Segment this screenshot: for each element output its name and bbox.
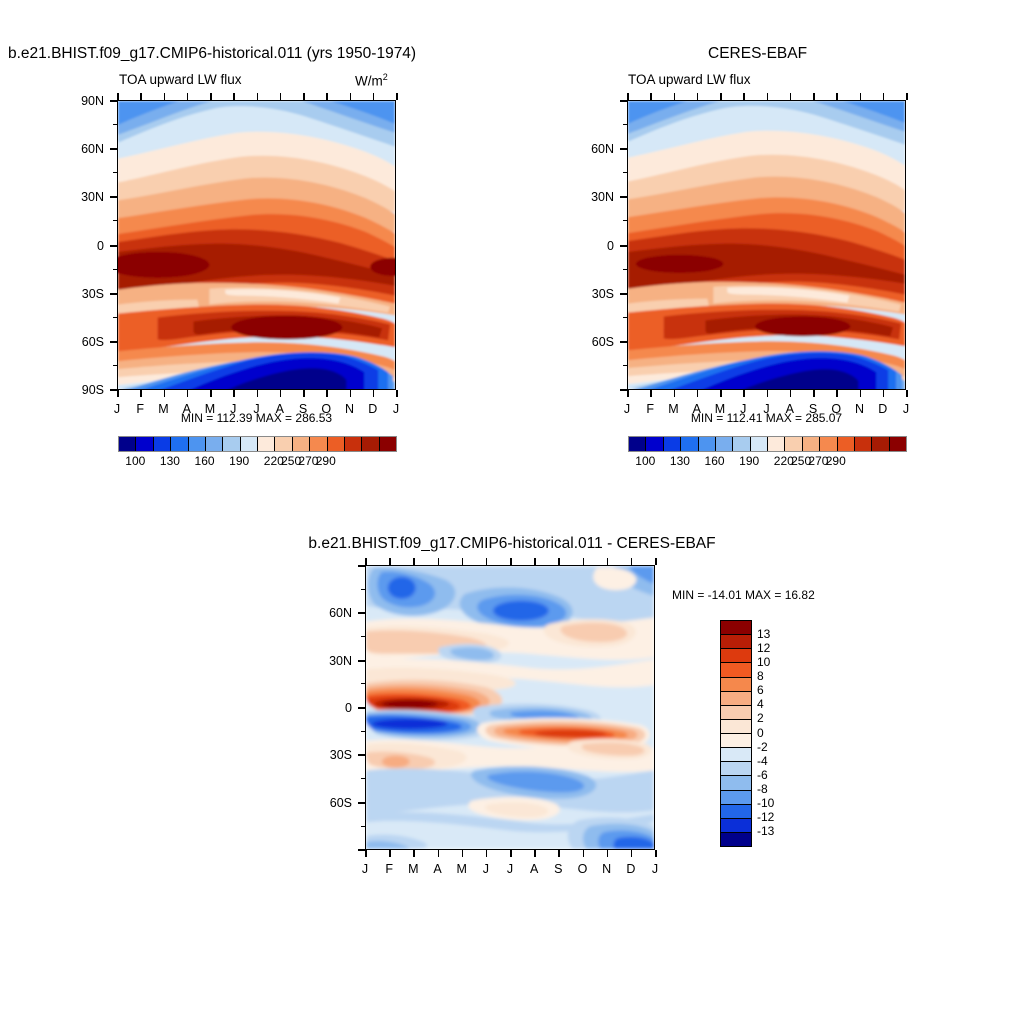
colorbar-label: 190 — [739, 454, 759, 468]
colorbar-cell — [721, 706, 751, 720]
colorbar-cell — [803, 437, 820, 451]
xaxis-top-tick — [117, 93, 119, 100]
colorbar-label: 290 — [316, 454, 336, 468]
obs-ytick-30S — [620, 293, 627, 295]
model-ytick-30N — [110, 196, 117, 198]
colorbar-label: 190 — [229, 454, 249, 468]
xaxis-top-tick — [510, 558, 512, 565]
xaxis-tick — [462, 850, 464, 857]
xaxis-tick — [558, 850, 560, 857]
colorbar-cell — [275, 437, 292, 451]
diff-panel-title: b.e21.BHIST.f09_g17.CMIP6-historical.011… — [0, 535, 1024, 553]
diff-ytick-minor — [361, 778, 365, 779]
obs-contour-field — [628, 101, 905, 389]
colorbar-label: 10 — [757, 655, 770, 669]
obs-ytick-60N — [620, 148, 627, 150]
model-ytick-minor — [113, 317, 117, 318]
xaxis-tick — [303, 390, 305, 397]
colorbar-label: -8 — [757, 782, 768, 796]
colorbar-cell — [785, 437, 802, 451]
xaxis-label: A — [433, 862, 441, 876]
xaxis-top-tick — [906, 93, 908, 100]
model-panel-subtitle: TOA upward LW flux — [119, 72, 242, 87]
model-ytick-minor — [113, 172, 117, 173]
colorbar-cell — [154, 437, 171, 451]
xaxis-tick — [767, 390, 769, 397]
xaxis-tick — [743, 390, 745, 397]
diff-ytick-90S — [358, 849, 365, 851]
colorbar-cell — [721, 734, 751, 748]
diff-ylabel-30S: 30S — [304, 748, 352, 762]
colorbar-cell — [721, 748, 751, 762]
model-ytick-minor — [113, 365, 117, 366]
model-ytick-60S — [110, 341, 117, 343]
xaxis-tick — [534, 850, 536, 857]
colorbar-cell — [258, 437, 275, 451]
colorbar-cell — [721, 791, 751, 805]
colorbar-cell — [119, 437, 136, 451]
xaxis-top-tick — [697, 93, 699, 100]
xaxis-tick — [373, 390, 375, 397]
xaxis-top-tick — [813, 93, 815, 100]
colorbar-cell — [721, 692, 751, 706]
colorbar-label: 8 — [757, 669, 764, 683]
colorbar-cell — [721, 635, 751, 649]
xaxis-top-tick — [365, 558, 367, 565]
model-panel-title: b.e21.BHIST.f09_g17.CMIP6-historical.011… — [8, 45, 416, 63]
colorbar-cell — [136, 437, 153, 451]
xaxis-top-tick — [650, 93, 652, 100]
colorbar-label: -13 — [757, 824, 774, 838]
xaxis-tick — [438, 850, 440, 857]
diff-ylabel-60N: 60N — [304, 606, 352, 620]
xaxis-tick — [655, 850, 657, 857]
model-plot-area — [117, 100, 396, 390]
xaxis-tick — [720, 390, 722, 397]
xaxis-tick — [631, 850, 633, 857]
obs-panel-subtitle: TOA upward LW flux — [628, 72, 751, 87]
xaxis-top-tick — [743, 93, 745, 100]
colorbar-cell — [345, 437, 362, 451]
diff-ytick-minor — [361, 636, 365, 637]
xaxis-tick — [906, 390, 908, 397]
xaxis-tick — [117, 390, 119, 397]
colorbar-cell — [206, 437, 223, 451]
xaxis-tick — [326, 390, 328, 397]
xaxis-top-tick — [583, 558, 585, 565]
xaxis-tick — [836, 390, 838, 397]
obs-colorbar — [628, 436, 907, 452]
colorbar-cell — [721, 776, 751, 790]
colorbar-cell — [721, 649, 751, 663]
xaxis-top-tick — [210, 93, 212, 100]
model-ylabel-30N: 30N — [56, 190, 104, 204]
colorbar-cell — [189, 437, 206, 451]
colorbar-cell — [721, 678, 751, 692]
xaxis-top-tick — [396, 93, 398, 100]
diff-plot-area — [365, 565, 655, 850]
xaxis-top-tick — [607, 558, 609, 565]
xaxis-tick — [140, 390, 142, 397]
xaxis-top-tick — [860, 93, 862, 100]
diff-ytick-minor — [361, 731, 365, 732]
model-ylabel-0: 0 — [56, 239, 104, 253]
xaxis-label: J — [362, 862, 368, 876]
xaxis-top-tick — [187, 93, 189, 100]
obs-ytick-minor — [623, 269, 627, 270]
colorbar-cell — [171, 437, 188, 451]
diff-ytick-60S — [358, 802, 365, 804]
model-colorbar — [118, 436, 397, 452]
colorbar-cell — [768, 437, 785, 451]
obs-ylabel-60N: 60N — [566, 142, 614, 156]
obs-minmax: MIN = 112.41 MAX = 285.07 — [627, 411, 906, 425]
xaxis-top-tick — [720, 93, 722, 100]
colorbar-label: -12 — [757, 810, 774, 824]
xaxis-top-tick — [534, 558, 536, 565]
xaxis-label: J — [483, 862, 489, 876]
diff-ylabel-60S: 60S — [304, 796, 352, 810]
obs-ylabel-30N: 30N — [566, 190, 614, 204]
colorbar-label: 4 — [757, 697, 764, 711]
xaxis-tick — [350, 390, 352, 397]
xaxis-top-tick — [627, 93, 629, 100]
model-contour-field — [118, 101, 395, 389]
model-ytick-0 — [110, 245, 117, 247]
xaxis-label: J — [507, 862, 513, 876]
colorbar-cell — [699, 437, 716, 451]
obs-ylabel-60S: 60S — [566, 335, 614, 349]
colorbar-cell — [751, 437, 768, 451]
model-ylabel-90N: 90N — [56, 94, 104, 108]
xaxis-top-tick — [326, 93, 328, 100]
xaxis-top-tick — [655, 558, 657, 565]
xaxis-top-tick — [413, 558, 415, 565]
obs-ylabel-30S: 30S — [566, 287, 614, 301]
xaxis-top-tick — [350, 93, 352, 100]
obs-ytick-minor — [623, 124, 627, 125]
colorbar-label: -2 — [757, 740, 768, 754]
colorbar-cell — [664, 437, 681, 451]
xaxis-top-tick — [438, 558, 440, 565]
xaxis-label: F — [385, 862, 393, 876]
model-units-label: W/m2 — [355, 72, 388, 89]
colorbar-cell — [328, 437, 345, 451]
colorbar-cell — [890, 437, 906, 451]
diff-colorbar — [720, 620, 752, 847]
xaxis-top-tick — [389, 558, 391, 565]
colorbar-cell — [223, 437, 240, 451]
model-ylabel-30S: 30S — [56, 287, 104, 301]
colorbar-cell — [855, 437, 872, 451]
xaxis-tick — [510, 850, 512, 857]
colorbar-label: 12 — [757, 641, 770, 655]
xaxis-label: N — [602, 862, 611, 876]
model-ylabel-60N: 60N — [56, 142, 104, 156]
xaxis-top-tick — [836, 93, 838, 100]
xaxis-top-tick — [674, 93, 676, 100]
colorbar-cell — [721, 621, 751, 635]
obs-ytick-90N — [620, 100, 627, 102]
diff-ytick-60N — [358, 612, 365, 614]
colorbar-cell — [872, 437, 889, 451]
xaxis-tick — [233, 390, 235, 397]
diff-ylabel-30N: 30N — [304, 654, 352, 668]
colorbar-label: 130 — [670, 454, 690, 468]
colorbar-label: 160 — [195, 454, 215, 468]
colorbar-cell — [733, 437, 750, 451]
xaxis-tick — [396, 390, 398, 397]
xaxis-top-tick — [883, 93, 885, 100]
colorbar-cell — [362, 437, 379, 451]
xaxis-label: A — [530, 862, 538, 876]
colorbar-cell — [721, 720, 751, 734]
obs-ytick-minor — [623, 220, 627, 221]
xaxis-tick — [583, 850, 585, 857]
colorbar-label: 2 — [757, 711, 764, 725]
xaxis-top-tick — [462, 558, 464, 565]
colorbar-cell — [646, 437, 663, 451]
colorbar-label: 100 — [125, 454, 145, 468]
colorbar-cell — [629, 437, 646, 451]
xaxis-top-tick — [767, 93, 769, 100]
xaxis-tick — [164, 390, 166, 397]
colorbar-cell — [721, 762, 751, 776]
diff-ytick-30S — [358, 754, 365, 756]
colorbar-label: -10 — [757, 796, 774, 810]
xaxis-tick — [650, 390, 652, 397]
xaxis-tick — [365, 850, 367, 857]
model-ytick-60N — [110, 148, 117, 150]
diff-ytick-minor — [361, 589, 365, 590]
colorbar-cell — [681, 437, 698, 451]
colorbar-label: 6 — [757, 683, 764, 697]
xaxis-tick — [790, 390, 792, 397]
xaxis-tick — [697, 390, 699, 397]
diff-ytick-30N — [358, 660, 365, 662]
colorbar-label: 160 — [705, 454, 725, 468]
xaxis-top-tick — [631, 558, 633, 565]
colorbar-label: 290 — [826, 454, 846, 468]
colorbar-cell — [380, 437, 396, 451]
xaxis-tick — [607, 850, 609, 857]
model-ytick-30S — [110, 293, 117, 295]
model-ytick-minor — [113, 124, 117, 125]
diff-ytick-0 — [358, 707, 365, 709]
diff-ytick-90N — [358, 565, 365, 567]
xaxis-tick — [883, 390, 885, 397]
xaxis-tick — [280, 390, 282, 397]
xaxis-label: S — [554, 862, 562, 876]
xaxis-top-tick — [486, 558, 488, 565]
obs-ytick-minor — [623, 365, 627, 366]
colorbar-cell — [241, 437, 258, 451]
colorbar-cell — [721, 819, 751, 833]
xaxis-tick — [210, 390, 212, 397]
colorbar-cell — [721, 805, 751, 819]
xaxis-tick — [813, 390, 815, 397]
model-ytick-minor — [113, 220, 117, 221]
xaxis-tick — [860, 390, 862, 397]
diff-ytick-minor — [361, 683, 365, 684]
obs-ytick-60S — [620, 341, 627, 343]
obs-ytick-minor — [623, 317, 627, 318]
model-ylabel-90S: 90S — [56, 383, 104, 397]
colorbar-label: 13 — [757, 627, 770, 641]
colorbar-cell — [721, 833, 751, 846]
xaxis-tick — [257, 390, 259, 397]
xaxis-tick — [389, 850, 391, 857]
xaxis-tick — [413, 850, 415, 857]
xaxis-label: O — [578, 862, 588, 876]
colorbar-label: -4 — [757, 754, 768, 768]
colorbar-label: 0 — [757, 726, 764, 740]
colorbar-cell — [820, 437, 837, 451]
colorbar-cell — [716, 437, 733, 451]
obs-ytick-90S — [620, 389, 627, 391]
colorbar-label: -6 — [757, 768, 768, 782]
colorbar-label: 100 — [635, 454, 655, 468]
model-ylabel-60S: 60S — [56, 335, 104, 349]
xaxis-label: D — [626, 862, 635, 876]
diff-minmax: MIN = -14.01 MAX = 16.82 — [672, 588, 815, 602]
obs-ytick-30N — [620, 196, 627, 198]
xaxis-top-tick — [558, 558, 560, 565]
xaxis-tick — [627, 390, 629, 397]
xaxis-label: M — [408, 862, 418, 876]
colorbar-label: 130 — [160, 454, 180, 468]
colorbar-cell — [293, 437, 310, 451]
xaxis-top-tick — [790, 93, 792, 100]
obs-panel-title: CERES-EBAF — [708, 45, 807, 63]
xaxis-label: M — [456, 862, 466, 876]
colorbar-cell — [838, 437, 855, 451]
diff-contour-field — [366, 566, 654, 849]
diff-ylabel-0: 0 — [304, 701, 352, 715]
xaxis-label: J — [652, 862, 658, 876]
colorbar-cell — [721, 663, 751, 677]
xaxis-tick — [486, 850, 488, 857]
xaxis-top-tick — [140, 93, 142, 100]
xaxis-tick — [674, 390, 676, 397]
xaxis-top-tick — [303, 93, 305, 100]
xaxis-top-tick — [373, 93, 375, 100]
diff-ytick-minor — [361, 826, 365, 827]
xaxis-top-tick — [164, 93, 166, 100]
xaxis-top-tick — [257, 93, 259, 100]
obs-ytick-minor — [623, 172, 627, 173]
xaxis-top-tick — [233, 93, 235, 100]
model-ytick-90S — [110, 389, 117, 391]
obs-ylabel-0: 0 — [566, 239, 614, 253]
model-ytick-90N — [110, 100, 117, 102]
model-minmax: MIN = 112.39 MAX = 286.53 — [117, 411, 396, 425]
obs-ytick-0 — [620, 245, 627, 247]
xaxis-top-tick — [280, 93, 282, 100]
colorbar-cell — [310, 437, 327, 451]
xaxis-tick — [187, 390, 189, 397]
model-ytick-minor — [113, 269, 117, 270]
obs-plot-area — [627, 100, 906, 390]
